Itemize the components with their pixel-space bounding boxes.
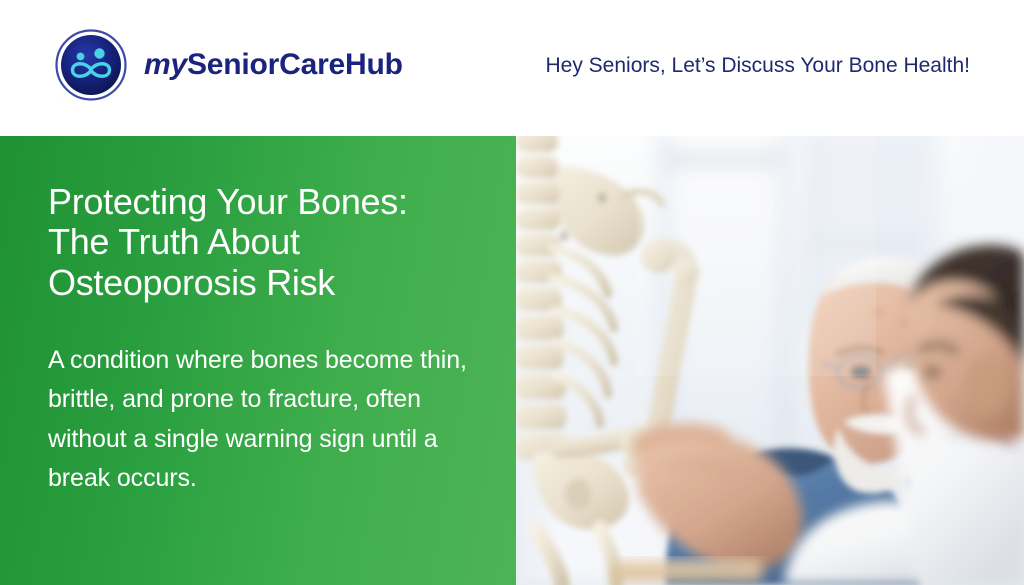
banner: mySeniorCareHub · ·· ·· Hey Seniors, Let…: [0, 0, 1024, 585]
circular-people-infinity-logo-icon: [54, 28, 128, 102]
hero-photo: [516, 136, 1024, 585]
brand-name: mySeniorCareHub: [144, 50, 403, 80]
brand-logo[interactable]: mySeniorCareHub: [54, 28, 403, 102]
page-title: Protecting Your Bones: The Truth About O…: [48, 182, 498, 303]
page-subcopy: A condition where bones become thin, bri…: [48, 341, 478, 498]
header-tagline: Hey Seniors, Let’s Discuss Your Bone Hea…: [545, 53, 970, 78]
clinic-consultation-illustration: [516, 136, 1024, 585]
logo-subtext: · ·· ··: [56, 100, 166, 107]
green-content-panel: Protecting Your Bones: The Truth About O…: [0, 136, 516, 585]
brand-name-italic: my: [144, 48, 187, 81]
header: mySeniorCareHub · ·· ·· Hey Seniors, Let…: [0, 0, 1024, 136]
brand-name-bold: SeniorCareHub: [187, 48, 403, 81]
